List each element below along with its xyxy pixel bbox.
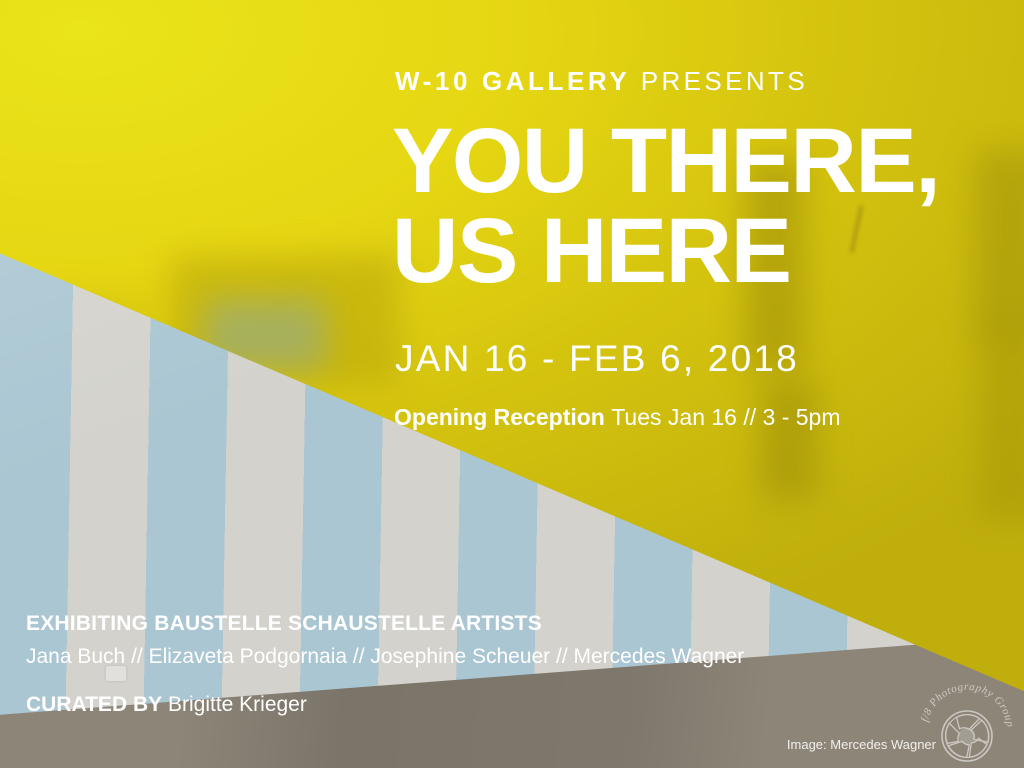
blurred-artwork-shape (980, 320, 1024, 520)
page-title: YOU THERE, US HERE (392, 116, 939, 296)
presents-word: PRESENTS (641, 66, 808, 96)
image-credit: Image: Mercedes Wagner (787, 737, 936, 752)
title-line-1: YOU THERE, (392, 110, 939, 212)
credits-block: EXHIBITING BAUSTELLE SCHAUSTELLE ARTISTS… (26, 612, 744, 717)
opening-reception-line: Opening Reception Tues Jan 16 // 3 - 5pm (394, 406, 841, 429)
reception-details: Tues Jan 16 // 3 - 5pm (611, 404, 840, 430)
watermark-text: f/8 Photography Group (919, 681, 1016, 728)
exhibition-poster: W-10 GALLERY PRESENTS YOU THERE, US HERE… (0, 0, 1024, 768)
curator-name: Brigitte Krieger (168, 693, 307, 716)
reception-label: Opening Reception (394, 404, 605, 430)
blurred-artwork-shape (975, 150, 1024, 340)
title-line-2: US HERE (392, 206, 939, 296)
gallery-presents-line: W-10 GALLERY PRESENTS (395, 68, 808, 94)
camera-aperture-icon: f/8 Photography Group (915, 678, 1019, 768)
gallery-name: W-10 GALLERY (395, 66, 630, 96)
blurred-artwork-shape (760, 380, 818, 500)
exhibiting-heading: EXHIBITING BAUSTELLE SCHAUSTELLE ARTISTS (26, 612, 744, 636)
exhibition-dates: JAN 16 - FEB 6, 2018 (395, 340, 799, 377)
svg-text:f/8 Photography Group: f/8 Photography Group (919, 681, 1016, 728)
curated-by-label: CURATED BY (26, 693, 162, 716)
curated-by-line: CURATED BY Brigitte Krieger (26, 693, 744, 717)
photographer-watermark: f/8 Photography Group (915, 678, 1019, 768)
artists-list: Jana Buch // Elizaveta Podgornaia // Jos… (26, 645, 744, 669)
